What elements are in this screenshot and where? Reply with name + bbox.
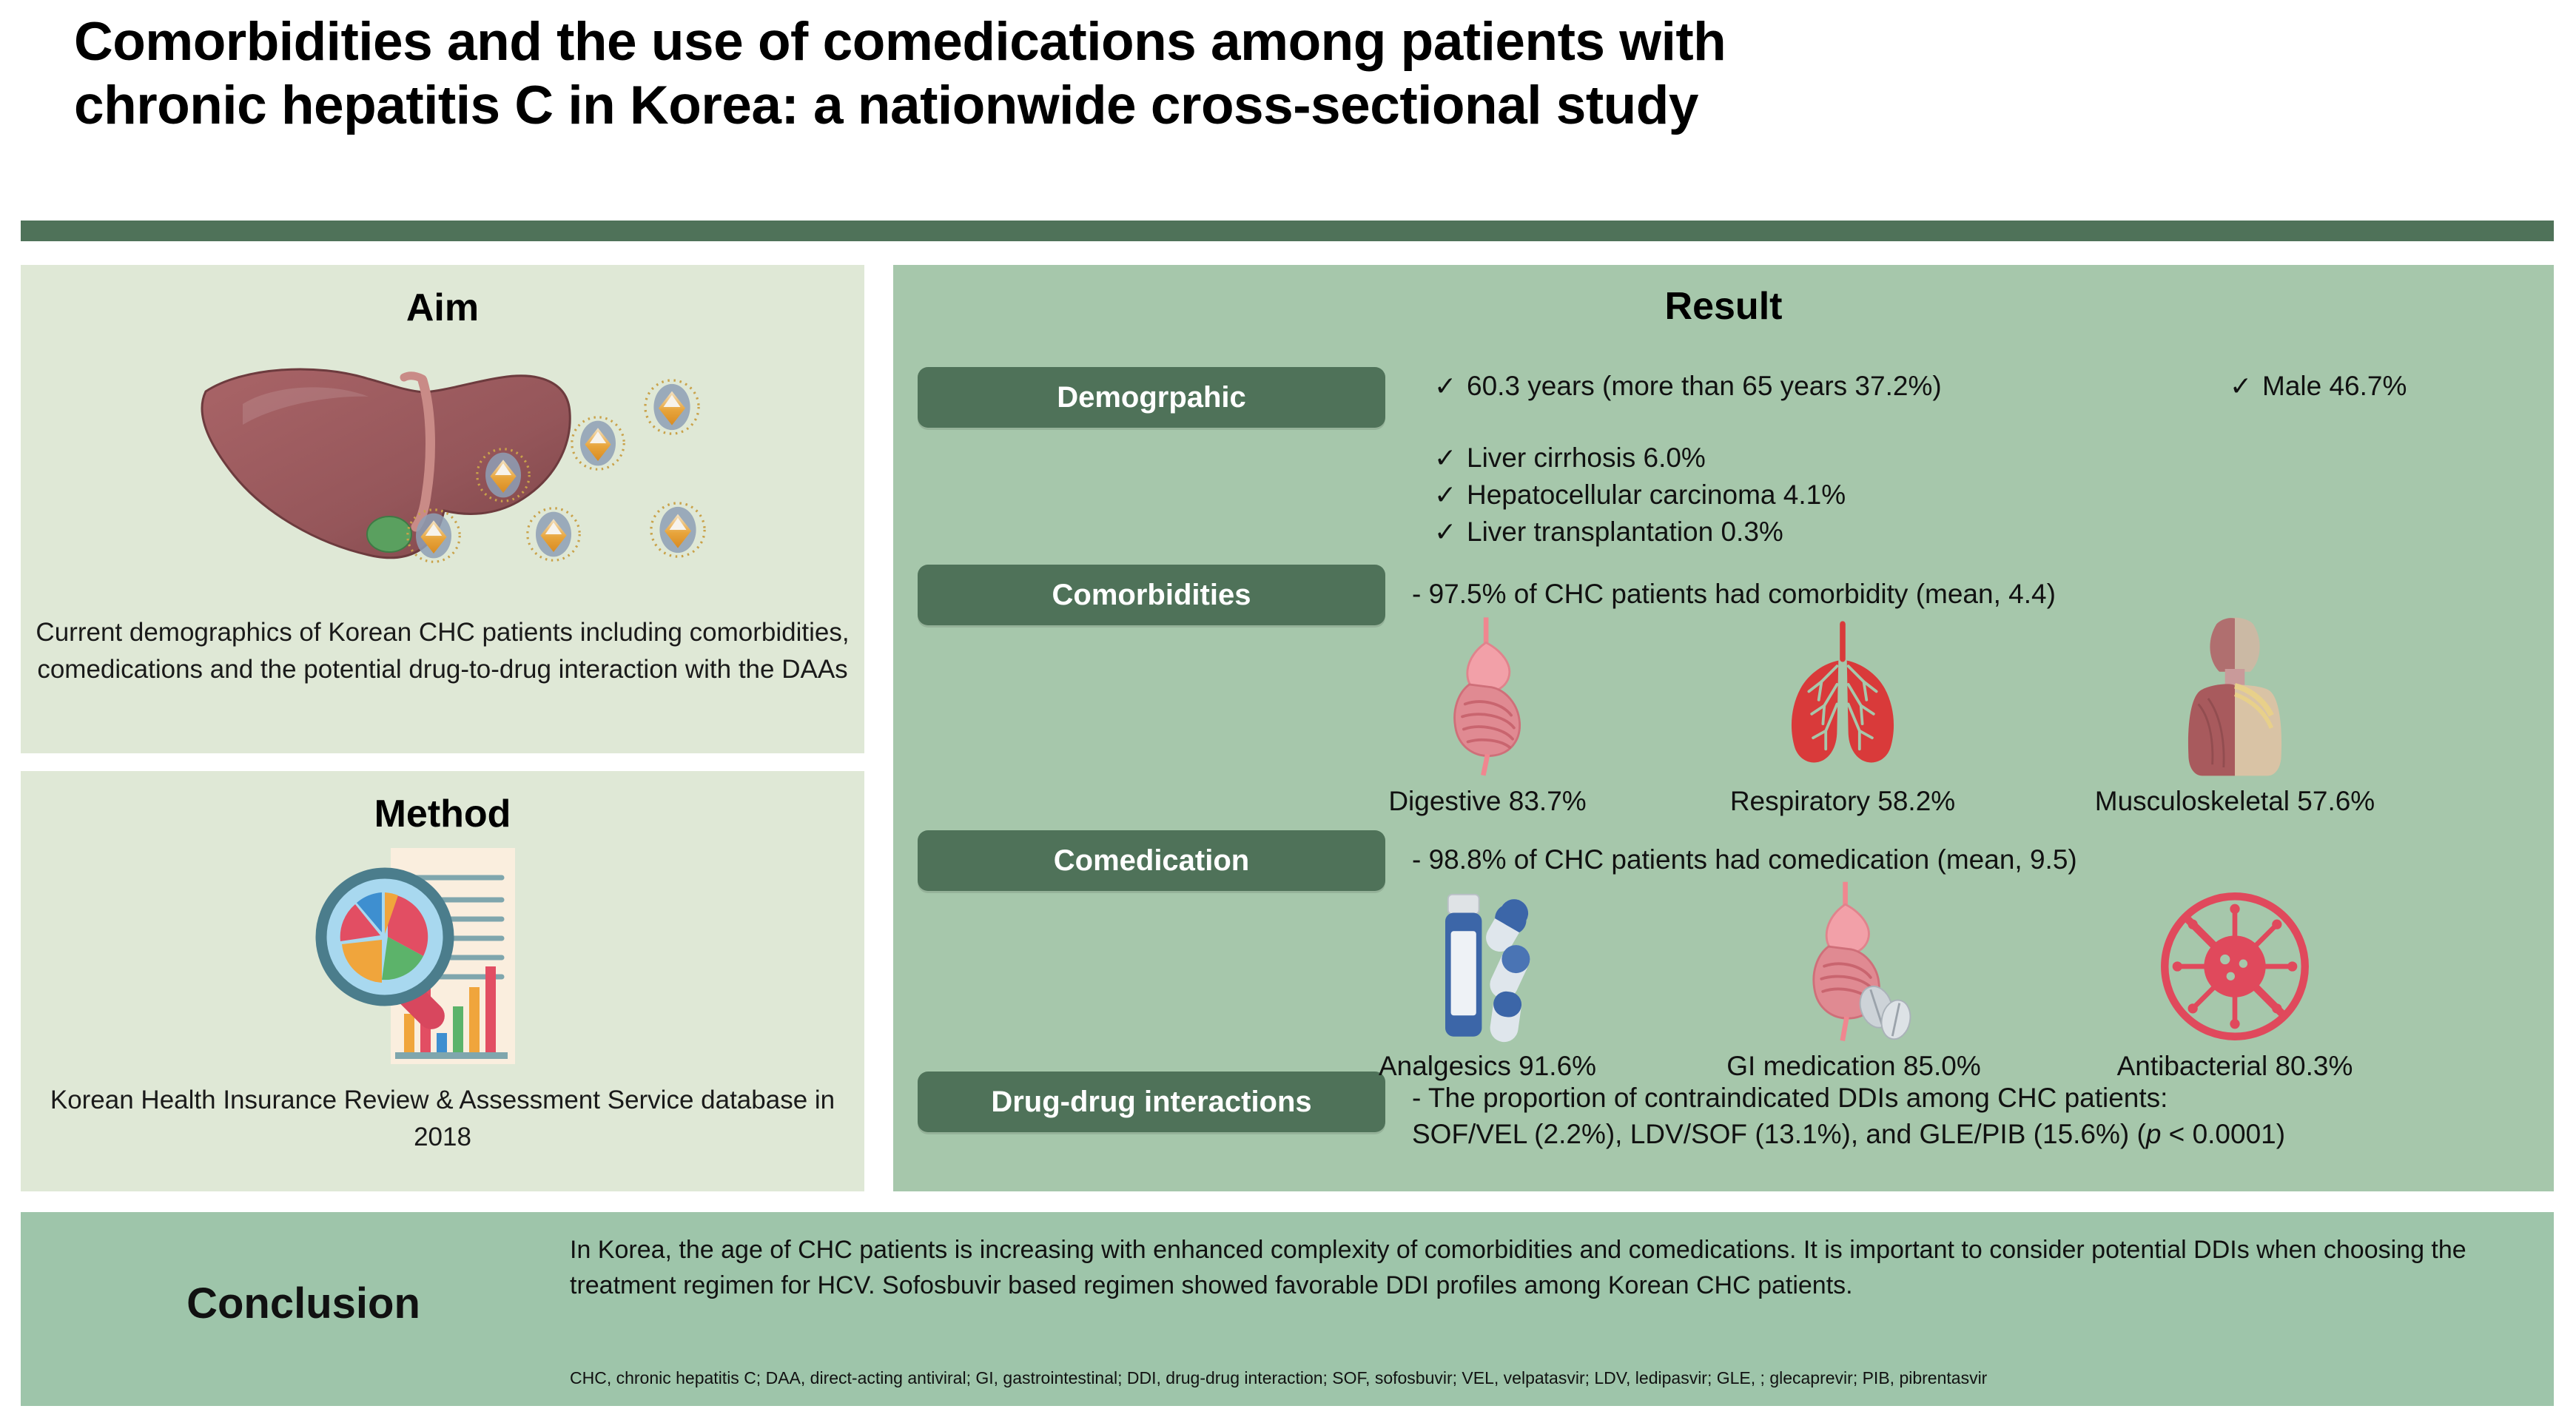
demographic-cirrhosis-row: ✓ Liver cirrhosis 6.0% [1434, 444, 1706, 473]
conclusion-title: Conclusion [74, 1279, 533, 1328]
demographic-hcc-text: Hepatocellular carcinoma 4.1% [1467, 481, 1846, 510]
comedication-item-analgesics: Analgesics 91.6% [1354, 878, 1621, 1082]
comedication-analgesics-label: Analgesics 91.6% [1354, 1051, 1621, 1082]
method-panel: Method [21, 771, 864, 1191]
bacteria-blocked-icon [2079, 878, 2390, 1046]
conclusion-body: In Korea, the age of CHC patients is inc… [570, 1233, 2523, 1303]
comorbidity-summary: - 97.5% of CHC patients had comorbidity … [1412, 576, 2056, 613]
comorbidity-digestive-label: Digestive 83.7% [1354, 786, 1621, 817]
ddi-p-symbol: p [2146, 1119, 2162, 1149]
digestive-system-with-tablets-icon [1706, 878, 2002, 1046]
comedication-item-gi-medication: GI medication 85.0% [1706, 878, 2002, 1082]
result-label-demographic[interactable]: Demogrpahic [918, 367, 1385, 428]
demographic-transplant-text: Liver transplantation 0.3% [1467, 518, 1783, 547]
comorbidity-item-digestive: Digestive 83.7% [1354, 613, 1621, 817]
page-title-line-2: chronic hepatitis C in Korea: a nationwi… [74, 74, 2516, 138]
method-caption: Korean Health Insurance Review & Assessm… [21, 1082, 864, 1155]
check-icon: ✓ [2230, 372, 2262, 400]
ddi-line-2-post: < 0.0001) [2161, 1119, 2285, 1149]
result-label-comorbidities[interactable]: Comorbidities [918, 565, 1385, 625]
ddi-line-2-pre: SOF/VEL (2.2%), LDV/SOF (13.1%), and GLE… [1412, 1119, 2146, 1149]
comedication-antibacterial-label: Antibacterial 80.3% [2079, 1051, 2390, 1082]
check-icon: ✓ [1434, 372, 1467, 400]
check-icon: ✓ [1434, 518, 1467, 546]
digestive-system-icon [1354, 613, 1621, 781]
comorbidity-musculoskeletal-label: Musculoskeletal 57.6% [2072, 786, 2398, 817]
aim-panel: Aim [21, 265, 864, 753]
result-label-comedication[interactable]: Comedication [918, 830, 1385, 891]
demographic-age-text: 60.3 years (more than 65 years 37.2%) [1467, 372, 1942, 401]
ddi-summary: - The proportion of contraindicated DDIs… [1412, 1080, 2537, 1153]
demographic-age-row: ✓ 60.3 years (more than 65 years 37.2%) [1434, 372, 1942, 401]
demographic-transplant-row: ✓ Liver transplantation 0.3% [1434, 518, 1783, 547]
comorbidity-respiratory-label: Respiratory 58.2% [1709, 786, 1976, 817]
ddi-line-2: SOF/VEL (2.2%), LDV/SOF (13.1%), and GLE… [1412, 1117, 2537, 1153]
page-title: Comorbidities and the use of comedicatio… [74, 10, 2516, 138]
liver-illustration [21, 336, 864, 602]
pill-bottle-capsules-icon [1354, 878, 1621, 1046]
comedication-item-antibacterial: Antibacterial 80.3% [2079, 878, 2390, 1082]
title-divider-bar [21, 221, 2554, 241]
demographic-cirrhosis-text: Liver cirrhosis 6.0% [1467, 444, 1706, 473]
ddi-line-1: - The proportion of contraindicated DDIs… [1412, 1080, 2537, 1117]
magnifier-chart-illustration [21, 842, 864, 1072]
musculoskeletal-body-icon [2072, 613, 2398, 781]
page-title-line-1: Comorbidities and the use of comedicatio… [74, 10, 2516, 74]
lungs-icon [1709, 613, 1976, 781]
result-label-drug-drug-interactions[interactable]: Drug-drug interactions [918, 1072, 1385, 1132]
demographic-male-text: Male 46.7% [2262, 372, 2407, 401]
aim-title: Aim [21, 286, 864, 330]
aim-caption: Current demographics of Korean CHC patie… [21, 614, 864, 687]
comorbidity-item-musculoskeletal: Musculoskeletal 57.6% [2072, 613, 2398, 817]
demographic-hcc-row: ✓ Hepatocellular carcinoma 4.1% [1434, 481, 1846, 510]
check-icon: ✓ [1434, 444, 1467, 472]
demographic-male-row: ✓ Male 46.7% [2230, 372, 2407, 401]
comedication-gi-label: GI medication 85.0% [1706, 1051, 2002, 1082]
comorbidity-item-respiratory: Respiratory 58.2% [1709, 613, 1976, 817]
check-icon: ✓ [1434, 481, 1467, 509]
conclusion-abbreviations-footnote: CHC, chronic hepatitis C; DAA, direct-ac… [570, 1368, 2553, 1390]
method-title: Method [21, 792, 864, 836]
comedication-summary: - 98.8% of CHC patients had comedication… [1412, 842, 2077, 878]
result-title: Result [893, 284, 2554, 329]
